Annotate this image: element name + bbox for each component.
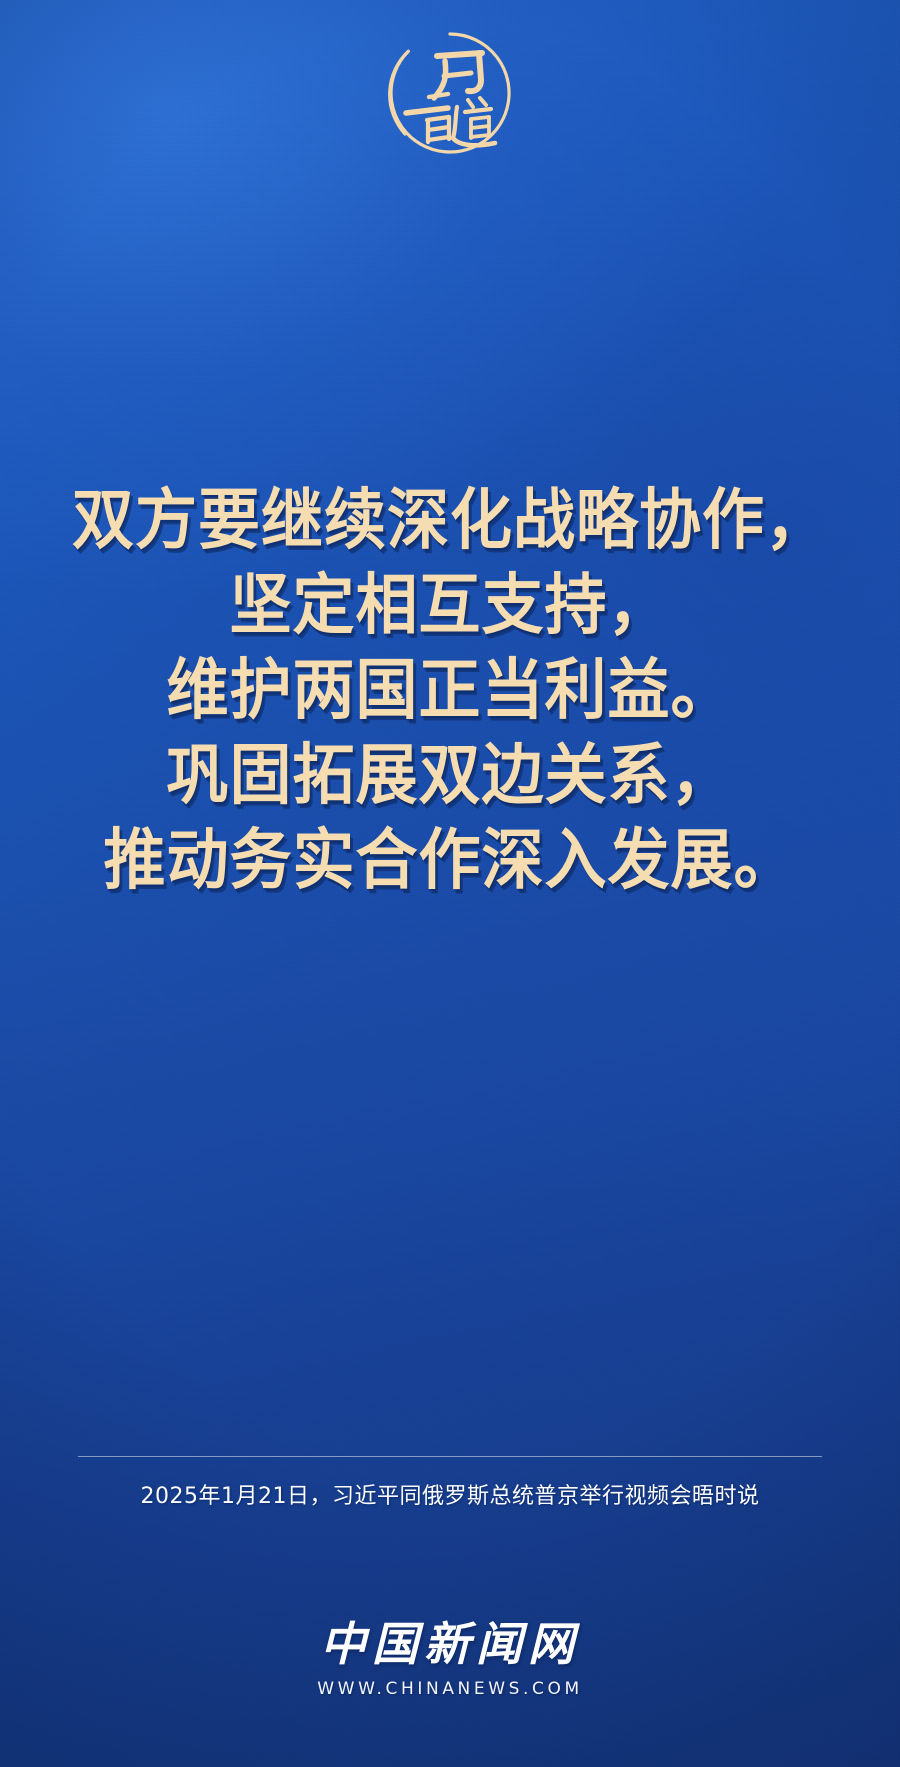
emblem-container	[0, 28, 900, 158]
quote-line-3: 维护两国正当利益。	[40, 645, 860, 735]
quote-line-5: 推动务实合作深入发展。	[40, 815, 860, 905]
attribution-caption: 2025年1月21日，习近平同俄罗斯总统普京举行视频会晤时说	[0, 1478, 900, 1510]
brand-name-chinanews: 中国新闻网	[0, 1619, 900, 1671]
brand-block: 中国新闻网 WWW.CHINANEWS.COM	[0, 1619, 900, 1699]
quote-line-2: 坚定相互支持，	[40, 560, 860, 650]
brand-url: WWW.CHINANEWS.COM	[0, 1679, 900, 1699]
quote-line-1: 双方要继续深化战略协作，	[40, 475, 860, 565]
caption-divider	[78, 1456, 822, 1457]
quote-block: 双方要继续深化战略协作， 坚定相互支持， 维护两国正当利益。 巩固拓展双边关系，…	[0, 480, 900, 905]
xi-yan-dao-seal-icon	[385, 28, 515, 158]
poster-canvas: 双方要继续深化战略协作， 坚定相互支持， 维护两国正当利益。 巩固拓展双边关系，…	[0, 0, 900, 1767]
quote-line-4: 巩固拓展双边关系，	[40, 730, 860, 820]
